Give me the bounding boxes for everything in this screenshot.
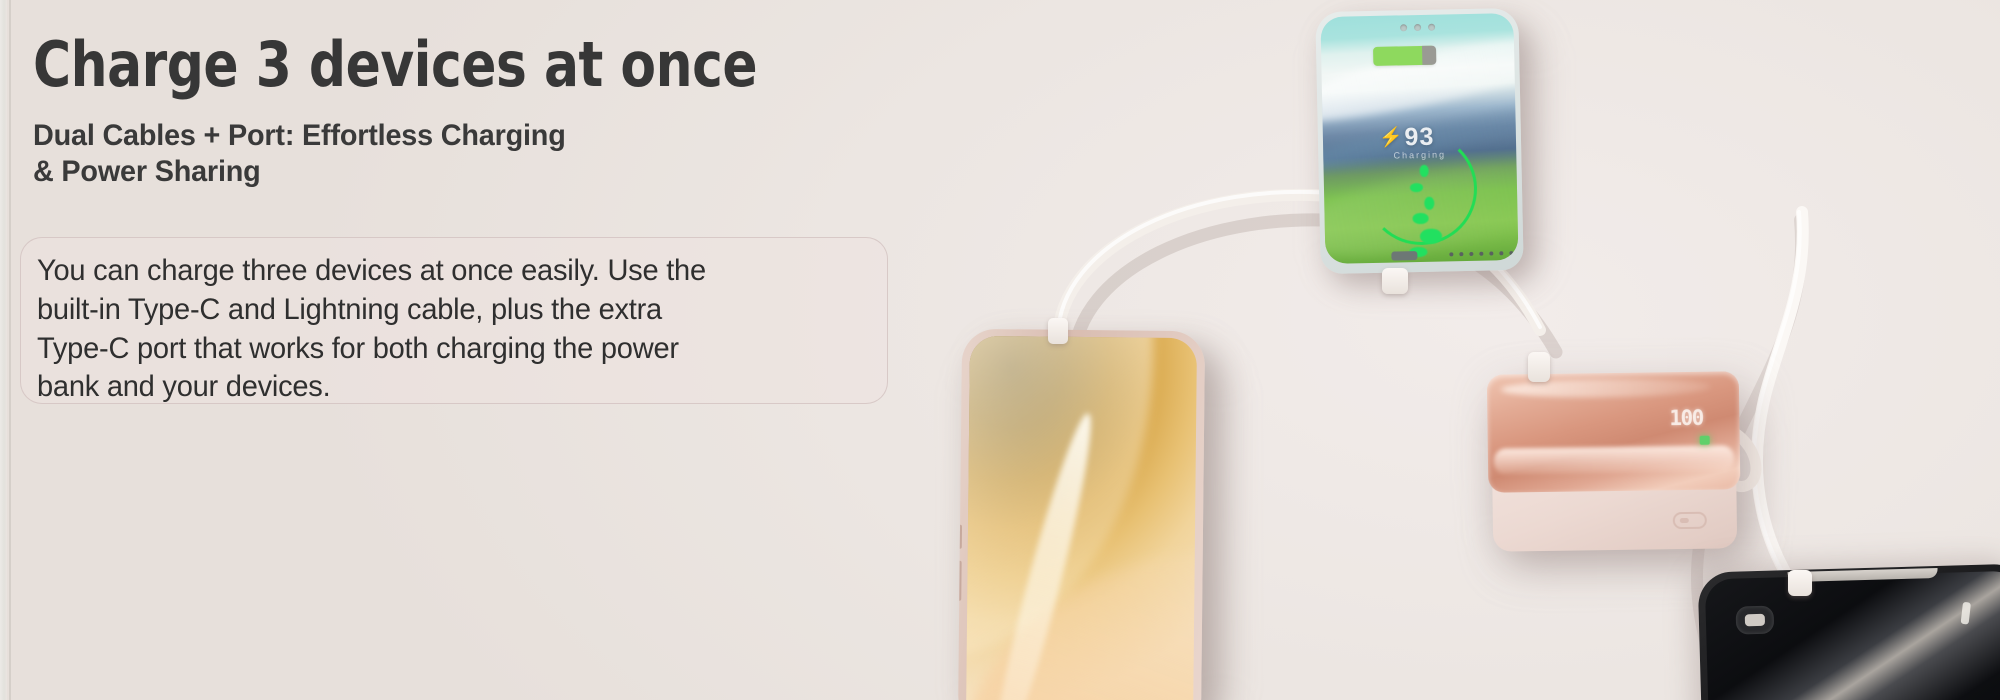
camera-dot <box>1414 24 1421 31</box>
grille-dot <box>1509 251 1513 255</box>
description-line-2: built-in Type-C and Lightning cable, plu… <box>37 291 857 330</box>
teal-phone-screen: ⚡ 93 Charging <box>1320 13 1518 264</box>
teal-phone-speaker-grille <box>1449 251 1513 256</box>
description-line-3: Type-C port that works for both charging… <box>37 330 857 369</box>
teal-phone-camera-dots <box>1400 24 1435 32</box>
charge-particle <box>1410 183 1423 192</box>
subheading-line-1: Dual Cables + Port: Effortless Charging <box>33 118 566 154</box>
description-box: You can charge three devices at once eas… <box>20 237 888 404</box>
grille-dot <box>1469 252 1473 256</box>
dark-phone <box>1698 563 2000 700</box>
text-column: Charge 3 devices at once Dual Cables + P… <box>0 0 960 700</box>
gold-phone <box>958 329 1205 700</box>
teal-phone: ⚡ 93 Charging <box>1315 8 1523 274</box>
power-bank-top-shell: 100 <box>1487 371 1741 493</box>
cable-connector-teal-phone <box>1382 268 1408 294</box>
power-bank-status-led <box>1700 436 1710 445</box>
edge-seam-line <box>9 0 11 700</box>
battery-icon <box>1373 46 1435 66</box>
dark-phone-screen-glint <box>1961 602 1971 625</box>
product-feature-banner: Charge 3 devices at once Dual Cables + P… <box>0 0 2000 700</box>
power-bank: 100 <box>1487 371 1741 552</box>
grille-dot <box>1449 252 1453 256</box>
charge-particle <box>1424 197 1434 210</box>
camera-dot <box>1400 24 1407 31</box>
subheading-line-2: & Power Sharing <box>33 154 566 190</box>
cable-connector-power-bank <box>1528 352 1550 382</box>
dark-phone-screen <box>1705 571 2000 700</box>
power-bank-led-display: 100 <box>1669 408 1712 453</box>
left-edge-strip <box>0 0 7 700</box>
charge-particle <box>1413 213 1429 224</box>
teal-phone-charging-port <box>1391 251 1417 261</box>
page-title: Charge 3 devices at once <box>33 32 757 97</box>
camera-dot <box>1428 24 1435 31</box>
description-text: You can charge three devices at once eas… <box>37 252 857 407</box>
power-bank-logo <box>1673 512 1707 529</box>
description-line-1: You can charge three devices at once eas… <box>37 252 857 291</box>
grille-dot <box>1459 252 1463 256</box>
power-bank-percent-value: 100 <box>1669 408 1711 430</box>
charge-particle <box>1420 165 1429 177</box>
subheading: Dual Cables + Port: Effortless Charging … <box>33 118 566 190</box>
grille-dot <box>1499 251 1503 255</box>
grille-dot <box>1489 251 1493 255</box>
gold-phone-screen <box>966 336 1197 700</box>
dark-phone-camera-island <box>1736 606 1775 635</box>
product-photo-scene: ⚡ 93 Charging <box>940 0 2000 700</box>
grille-dot <box>1479 252 1483 256</box>
description-line-4: bank and your devices. <box>37 368 857 407</box>
cable-connector-dark-phone <box>1788 570 1812 596</box>
cable-connector-gold-phone <box>1048 318 1068 344</box>
